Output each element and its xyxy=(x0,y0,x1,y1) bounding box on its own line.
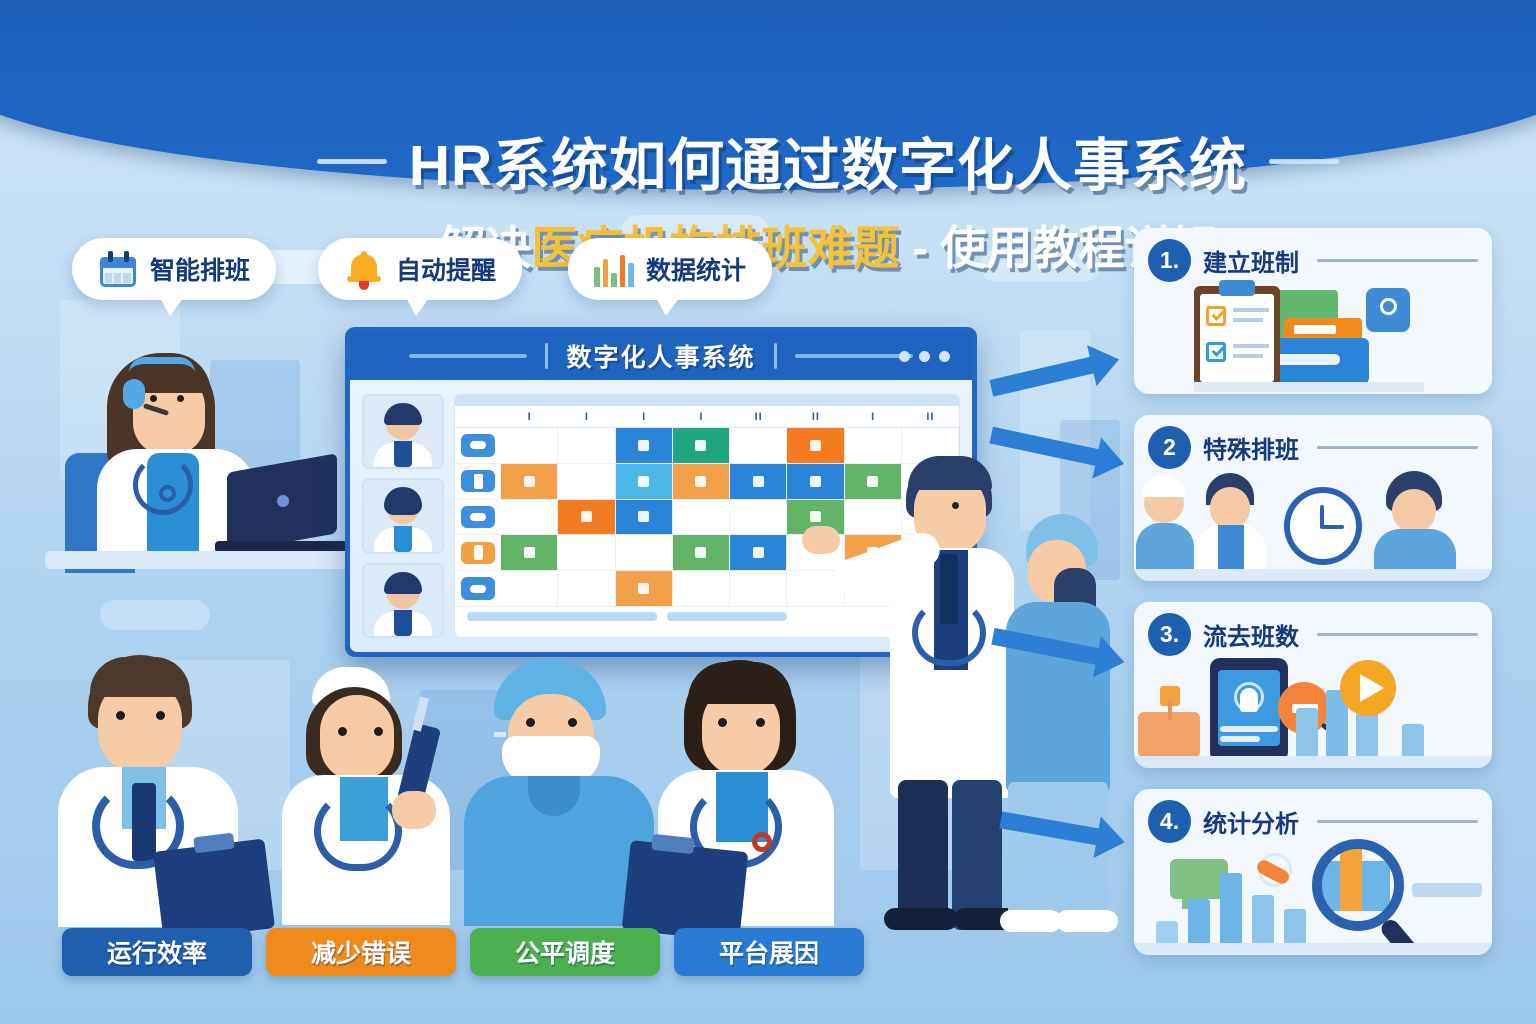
step-number: 1. xyxy=(1148,239,1191,282)
schedule-cell[interactable] xyxy=(558,428,615,463)
window-dots[interactable] xyxy=(899,351,950,362)
schedule-cell[interactable] xyxy=(501,500,558,535)
schedule-cell[interactable] xyxy=(673,571,730,606)
schedule-row-header xyxy=(455,428,501,463)
shift-glyph xyxy=(810,440,821,451)
benefit-tag-label: 运行效率 xyxy=(107,934,207,970)
illustration-doctor-tablet xyxy=(660,660,860,925)
grid-col-header: I xyxy=(616,406,673,427)
schedule-cell[interactable] xyxy=(558,464,615,499)
schedule-row-header xyxy=(455,535,501,570)
clipboard-checklist-icon xyxy=(1134,282,1492,394)
shift-glyph xyxy=(581,511,592,522)
grid-col-header: I xyxy=(558,406,615,427)
schedule-cell[interactable] xyxy=(673,428,730,463)
step-divider xyxy=(1317,820,1478,823)
avatar[interactable] xyxy=(362,563,444,638)
schedule-cell[interactable] xyxy=(787,464,844,499)
feature-pill-label: 智能排班 xyxy=(150,251,250,287)
step-divider xyxy=(1317,446,1478,449)
staff-clock-icon xyxy=(1134,469,1492,581)
step-title: 特殊排班 xyxy=(1203,430,1299,465)
avatar[interactable] xyxy=(362,478,444,553)
row-chip-icon xyxy=(461,434,495,456)
monitor-titlebar: 数字化人事系统 xyxy=(350,332,972,380)
step-divider xyxy=(1317,633,1478,636)
infographic-canvas: HR系统如何通过数字化人事系统 解决医疗机构排班难题 - 使用教程详解 智能排班… xyxy=(0,0,1536,1024)
shift-glyph xyxy=(753,476,764,487)
benefit-tag[interactable]: 公平调度 xyxy=(470,928,660,976)
feature-pill-label: 数据统计 xyxy=(646,251,746,287)
shift-glyph xyxy=(753,547,764,558)
benefit-tag-row: 运行效率 减少错误 公平调度 平台展因 xyxy=(62,928,864,976)
grid-col-header: I xyxy=(845,406,902,427)
schedule-cell[interactable] xyxy=(501,464,558,499)
chart-magnifier-icon xyxy=(1134,843,1492,955)
schedule-row-header xyxy=(455,571,501,606)
shift-glyph xyxy=(695,440,706,451)
employee-avatar-list xyxy=(362,394,444,638)
title-rule-right xyxy=(1269,159,1339,164)
shift-glyph xyxy=(810,476,821,487)
grid-col-header: I xyxy=(673,406,730,427)
feature-pill-auto-reminder[interactable]: 自动提醒 xyxy=(318,238,522,300)
grid-col-header: I xyxy=(501,406,558,427)
mobile-play-chart-icon xyxy=(1134,656,1492,768)
schedule-cell[interactable] xyxy=(616,535,673,570)
step-title: 统计分析 xyxy=(1203,804,1299,839)
benefit-tag-label: 公平调度 xyxy=(515,934,615,970)
step-title: 流去班数 xyxy=(1203,617,1299,652)
schedule-cell[interactable] xyxy=(730,428,787,463)
schedule-cell[interactable] xyxy=(558,500,615,535)
title-rule-left xyxy=(317,159,387,164)
schedule-cell[interactable] xyxy=(501,535,558,570)
shift-glyph xyxy=(524,547,535,558)
schedule-row-header xyxy=(455,500,501,535)
shift-glyph xyxy=(695,476,706,487)
feature-pill-label: 自动提醒 xyxy=(396,251,496,287)
shift-glyph xyxy=(810,511,821,522)
step-number: 2 xyxy=(1148,426,1191,469)
feature-pill-smart-scheduling[interactable]: 智能排班 xyxy=(72,238,276,300)
illustration-doctor-clipboard xyxy=(62,655,272,925)
benefit-tag[interactable]: 减少错误 xyxy=(266,928,456,976)
schedule-cell[interactable] xyxy=(730,500,787,535)
bar-chart-icon xyxy=(594,251,634,287)
step-number: 3. xyxy=(1148,613,1191,656)
schedule-cell[interactable] xyxy=(616,464,673,499)
shift-glyph xyxy=(638,476,649,487)
shift-glyph xyxy=(638,583,649,594)
step-number: 4. xyxy=(1148,800,1191,843)
shift-glyph xyxy=(695,547,706,558)
row-chip-icon xyxy=(461,470,495,492)
grid-col-header: II xyxy=(902,406,959,427)
schedule-cell[interactable] xyxy=(673,464,730,499)
feature-pill-data-statistics[interactable]: 数据统计 xyxy=(568,238,772,300)
schedule-cell[interactable] xyxy=(730,571,787,606)
row-chip-icon xyxy=(461,506,495,528)
schedule-cell[interactable] xyxy=(501,428,558,463)
step-title: 建立班制 xyxy=(1203,243,1299,278)
shift-glyph xyxy=(638,440,649,451)
benefit-tag[interactable]: 运行效率 xyxy=(62,928,252,976)
calendar-icon xyxy=(98,251,138,287)
step-divider xyxy=(1317,259,1478,262)
shift-glyph xyxy=(524,476,535,487)
step-card-1[interactable]: 1. 建立班制 xyxy=(1134,228,1492,394)
row-chip-icon xyxy=(461,577,495,599)
illustration-nurse-syringe xyxy=(280,665,465,925)
benefit-tag-label: 平台展因 xyxy=(719,934,819,970)
schedule-cell[interactable] xyxy=(501,571,558,606)
illustration-scrub-nurse xyxy=(998,510,1118,930)
shift-glyph xyxy=(638,511,649,522)
grid-corner xyxy=(455,406,501,427)
schedule-cell[interactable] xyxy=(558,571,615,606)
schedule-cell[interactable] xyxy=(730,535,787,570)
page-title: HR系统如何通过数字化人事系统 xyxy=(409,120,1247,202)
schedule-cell[interactable] xyxy=(616,571,673,606)
schedule-cell[interactable] xyxy=(558,535,615,570)
schedule-cell[interactable] xyxy=(616,428,673,463)
grid-col-header: II xyxy=(787,406,844,427)
schedule-row-header xyxy=(455,464,501,499)
grid-col-header: II xyxy=(730,406,787,427)
benefit-tag-label: 减少错误 xyxy=(311,934,411,970)
avatar[interactable] xyxy=(362,394,444,469)
step-card-3[interactable]: 3. 流去班数 xyxy=(1134,602,1492,768)
schedule-cell[interactable] xyxy=(616,500,673,535)
schedule-grid-header: I I I I II II I II xyxy=(455,406,959,428)
step-card-4[interactable]: 4. 统计分析 xyxy=(1134,789,1492,955)
schedule-cell[interactable] xyxy=(673,535,730,570)
schedule-cell[interactable] xyxy=(787,428,844,463)
schedule-cell[interactable] xyxy=(673,500,730,535)
illustration-headset-doctor xyxy=(55,345,355,595)
step-card-2[interactable]: 2 特殊排班 xyxy=(1134,415,1492,581)
row-chip-icon xyxy=(461,542,495,564)
benefit-tag[interactable]: 平台展因 xyxy=(674,928,864,976)
bell-icon xyxy=(344,251,384,287)
monitor-title: 数字化人事系统 xyxy=(566,338,755,374)
schedule-cell[interactable] xyxy=(730,464,787,499)
